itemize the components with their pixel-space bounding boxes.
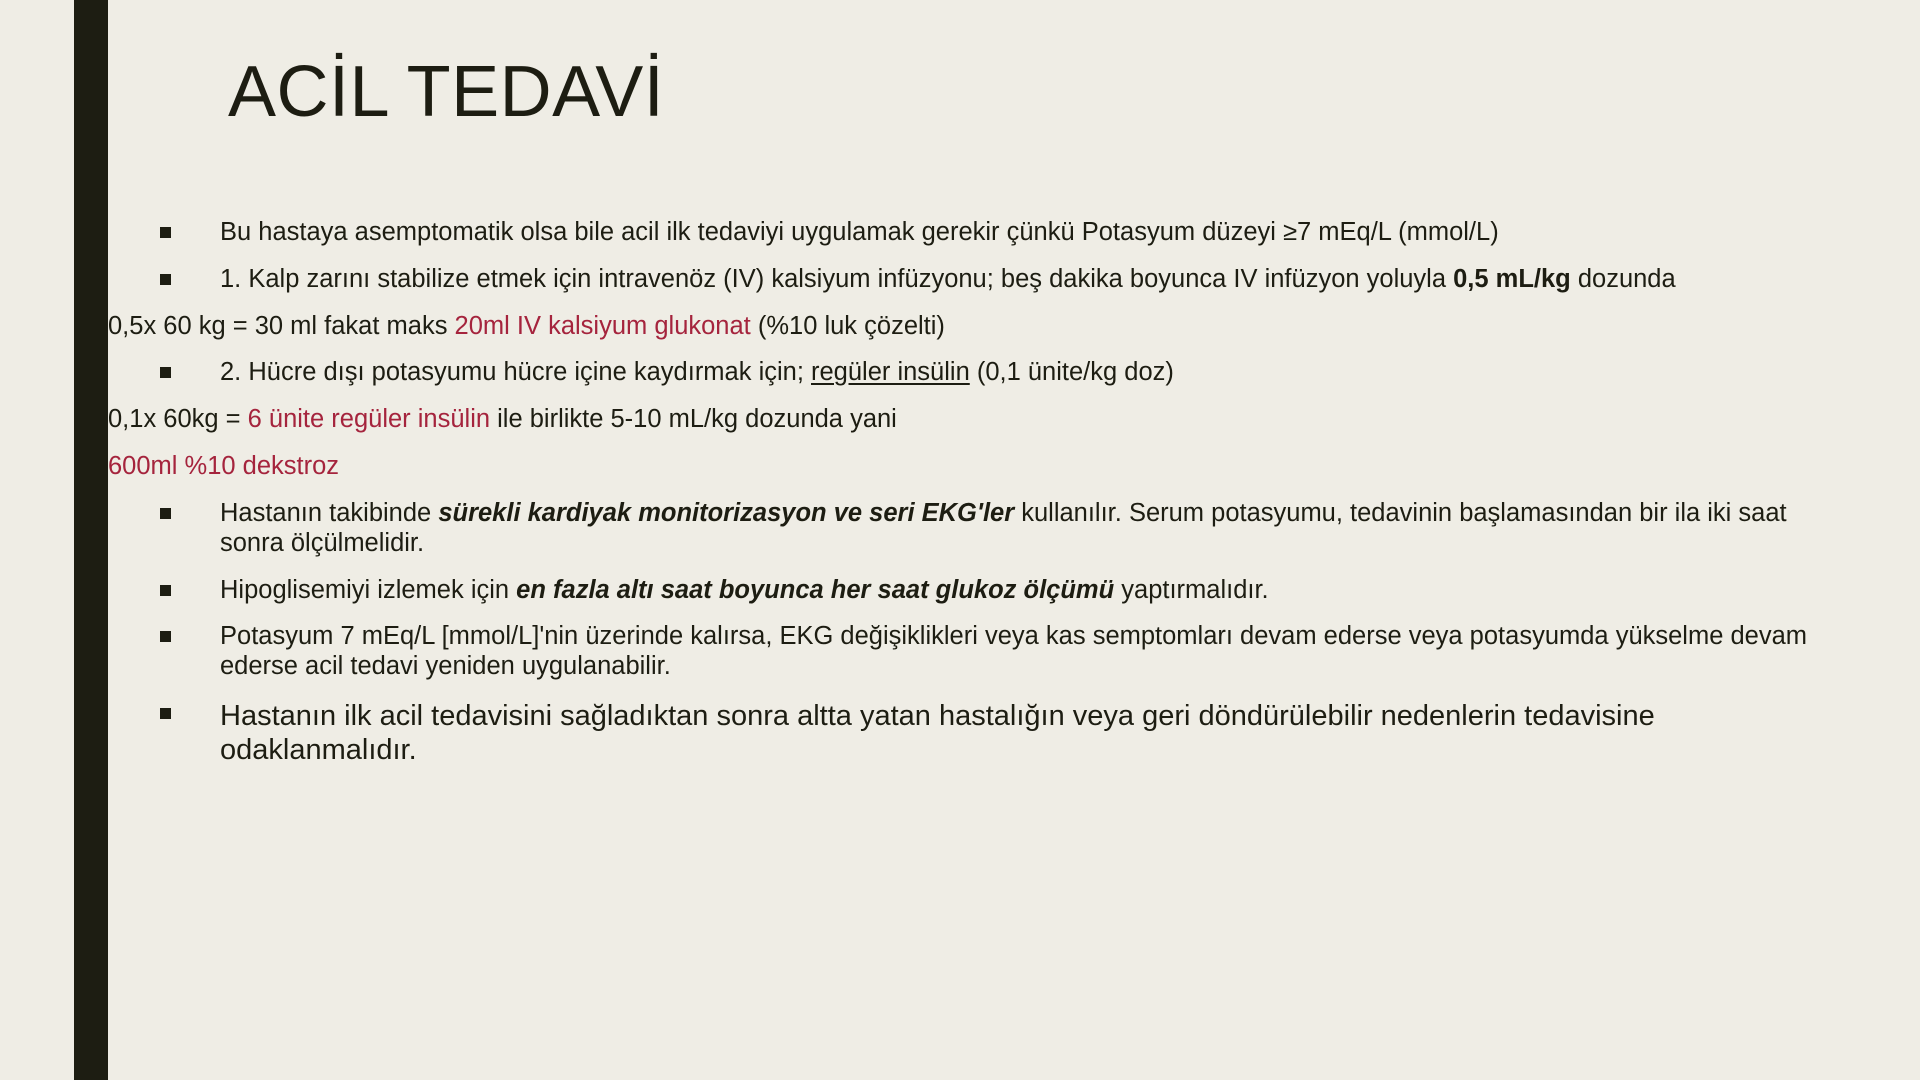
bullet-item: Potasyum 7 mEq/L [mmol/L]'nin üzerinde k… bbox=[108, 622, 1808, 682]
text-run-bold-italic: en fazla altı saat boyunca her saat gluk… bbox=[516, 576, 1114, 604]
bullet-item: 1. Kalp zarını stabilize etmek için intr… bbox=[108, 265, 1808, 295]
text-run-bold: 0,5 mL/kg bbox=[1453, 265, 1571, 293]
body-paragraph: 0,5x 60 kg = 30 ml fakat maks 20ml IV ka… bbox=[108, 312, 1808, 342]
bullet-item: Hastanın ilk acil tedavisini sağladıktan… bbox=[108, 699, 1808, 767]
text-run-red: 20ml IV kalsiyum glukonat bbox=[455, 312, 751, 340]
text-run-normal: Bu hastaya asemptomatik olsa bile acil i… bbox=[220, 218, 1499, 246]
slide-content: ACİL TEDAVİ Bu hastaya asemptomatik olsa… bbox=[108, 0, 1920, 1080]
text-run-underline: regüler insülin bbox=[811, 358, 970, 386]
text-run-normal: 0,1x 60kg = bbox=[108, 405, 248, 433]
text-run-normal: 2. Hücre dışı potasyumu hücre içine kayd… bbox=[220, 358, 811, 386]
text-run-normal: Hipoglisemiyi izlemek için bbox=[220, 576, 516, 604]
bullet-item: Bu hastaya asemptomatik olsa bile acil i… bbox=[108, 218, 1808, 248]
presentation-slide: ACİL TEDAVİ Bu hastaya asemptomatik olsa… bbox=[0, 0, 1920, 1080]
square-bullet-icon bbox=[160, 631, 171, 642]
body-paragraph: 600ml %10 dekstroz bbox=[108, 452, 1808, 482]
square-bullet-icon bbox=[160, 274, 171, 285]
slide-body: Bu hastaya asemptomatik olsa bile acil i… bbox=[108, 218, 1808, 785]
left-accent-bar bbox=[74, 0, 108, 1080]
text-run-red: 6 ünite regüler insülin bbox=[248, 405, 490, 433]
text-run-normal: 1. Kalp zarını stabilize etmek için intr… bbox=[220, 265, 1453, 293]
text-run-normal: (%10 luk çözelti) bbox=[751, 312, 945, 340]
bullet-item: Hipoglisemiyi izlemek için en fazla altı… bbox=[108, 576, 1808, 606]
square-bullet-icon bbox=[160, 585, 171, 596]
bullet-item: Hastanın takibinde sürekli kardiyak moni… bbox=[108, 499, 1808, 559]
text-run-normal: Hastanın takibinde bbox=[220, 499, 438, 527]
square-bullet-icon bbox=[160, 367, 171, 378]
text-run-normal: Potasyum 7 mEq/L [mmol/L]'nin üzerinde k… bbox=[220, 622, 1807, 680]
text-run-bold-italic: sürekli kardiyak monitorizasyon ve seri … bbox=[438, 499, 1014, 527]
text-run-normal: Hastanın ilk acil tedavisini sağladıktan… bbox=[220, 700, 1655, 766]
slide-title: ACİL TEDAVİ bbox=[228, 55, 664, 131]
square-bullet-icon bbox=[160, 508, 171, 519]
square-bullet-icon bbox=[160, 708, 171, 719]
bullet-item: 2. Hücre dışı potasyumu hücre içine kayd… bbox=[108, 358, 1808, 388]
text-run-normal: yaptırmalıdır. bbox=[1114, 576, 1268, 604]
text-run-normal: dozunda bbox=[1571, 265, 1676, 293]
text-run-normal: ile birlikte 5-10 mL/kg dozunda yani bbox=[490, 405, 897, 433]
square-bullet-icon bbox=[160, 227, 171, 238]
text-run-red: 600ml %10 dekstroz bbox=[108, 452, 339, 480]
text-run-normal: (0,1 ünite/kg doz) bbox=[970, 358, 1174, 386]
body-paragraph: 0,1x 60kg = 6 ünite regüler insülin ile … bbox=[108, 405, 1808, 435]
text-run-normal: 0,5x 60 kg = 30 ml fakat maks bbox=[108, 312, 455, 340]
